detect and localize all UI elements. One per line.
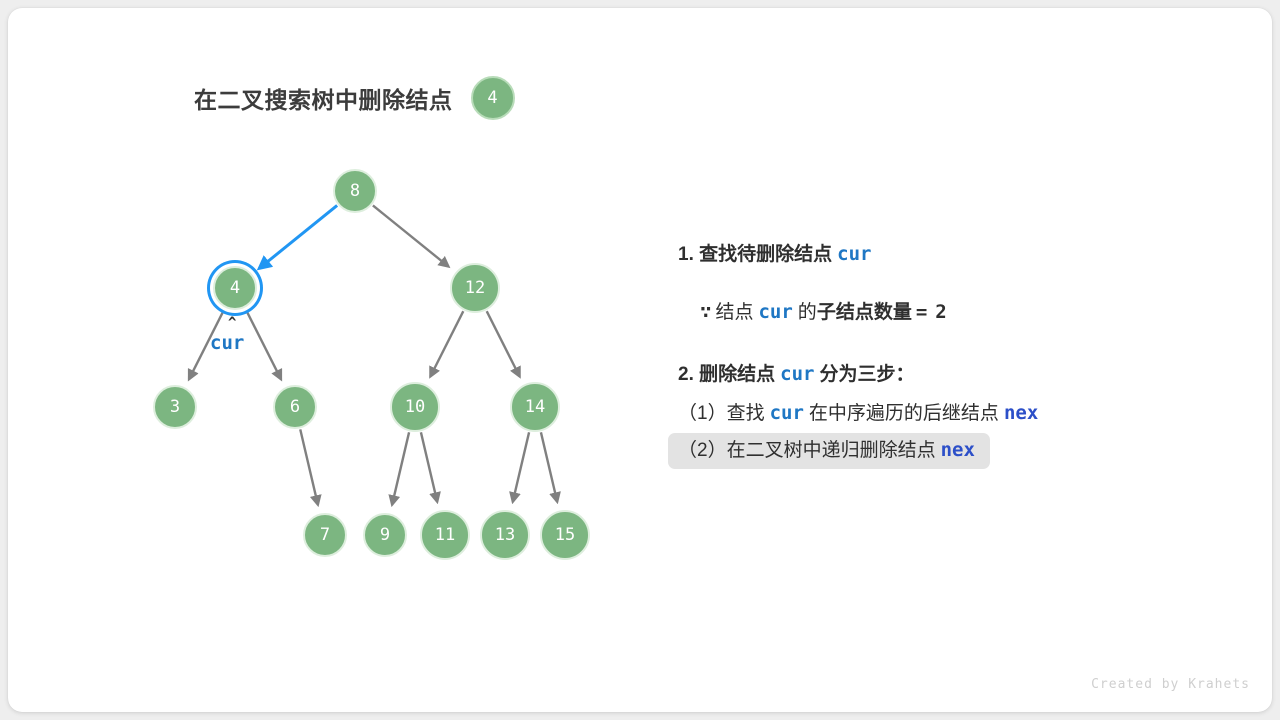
credit-watermark: Created by Krahets	[1091, 677, 1250, 692]
reason-line: ∵结点cur的子结点数量=2	[696, 302, 1218, 324]
sub-line-index: （1）	[678, 403, 727, 424]
step-2-text: 2. 删除结点	[678, 364, 775, 385]
step-2-heading: 2. 删除结点cur分为三步：	[678, 364, 1218, 386]
step-2-block: 2. 删除结点cur分为三步： （1）查找cur在中序遍历的后继结点nex（2）…	[678, 364, 1218, 470]
tree-node-label: 3	[170, 399, 180, 416]
tree-node-10: 10	[390, 382, 440, 432]
tree-node-label: 8	[350, 183, 360, 200]
tree-node-8: 8	[333, 169, 377, 213]
reason-part-1: 结点	[715, 302, 753, 323]
tree-node-6: 6	[273, 385, 317, 429]
sub-line-1: （1）查找cur在中序遍历的后继结点nex	[668, 396, 1053, 433]
tree-node-13: 13	[480, 510, 530, 560]
step-2-suffix: 分为三步：	[819, 364, 914, 385]
step-2-var-cur: cur	[775, 363, 819, 385]
reason-var-cur: cur	[753, 301, 797, 323]
step-1-var-cur: cur	[832, 243, 876, 265]
tree-node-label: 6	[290, 399, 300, 416]
tree-node-label: 13	[495, 527, 515, 544]
explanation-panel: 1. 查找待删除结点cur ∵结点cur的子结点数量=2 2. 删除结点cur分…	[678, 244, 1218, 469]
step-2-sub-line-row: （1）查找cur在中序遍历的后继结点nex	[668, 396, 1218, 433]
tree-node-label: 15	[555, 527, 575, 544]
reason-equals: =	[912, 301, 931, 323]
step-1-text: 1. 查找待删除结点	[678, 244, 832, 265]
tree-node-3: 3	[153, 385, 197, 429]
step-1-heading: 1. 查找待删除结点cur	[678, 244, 1218, 266]
tree-node-9: 9	[363, 513, 407, 557]
sub-line-var-nex: nex	[936, 439, 980, 461]
page-title: 在二叉搜索树中删除结点 4	[194, 76, 515, 120]
tree-node-label: 9	[380, 527, 390, 544]
tree-node-15: 15	[540, 510, 590, 560]
cur-pointer-label: cur	[210, 334, 244, 353]
tree-node-label: 7	[320, 527, 330, 544]
tree-node-label: 11	[435, 527, 455, 544]
step-2-sub-lines: （1）查找cur在中序遍历的后继结点nex（2）在二叉树中递归删除结点nex	[668, 396, 1218, 470]
step-2-sub-line-row: （2）在二叉树中递归删除结点nex	[668, 433, 1218, 470]
title-step-badge: 4	[471, 76, 515, 120]
tree-node-11: 11	[420, 510, 470, 560]
because-symbol-icon: ∵	[696, 301, 715, 323]
screenshot-stage: 在二叉搜索树中删除结点 4 841236101479111315 ^ cur 1…	[0, 0, 1280, 720]
sub-line-2: （2）在二叉树中递归删除结点nex	[668, 433, 990, 470]
sub-line-var-nex: nex	[999, 402, 1043, 424]
cur-pointer-caret-icon: ^	[228, 316, 236, 330]
tree-node-4: 4	[213, 266, 257, 310]
sub-line-text-before: 查找	[727, 403, 765, 424]
reason-part-2: 的	[798, 302, 817, 323]
sub-line-index: （2）	[678, 440, 727, 461]
tree-node-14: 14	[510, 382, 560, 432]
sub-line-text-middle: 在中序遍历的后继结点	[809, 403, 999, 424]
tree-node-label: 10	[405, 399, 425, 416]
tree-node-label: 12	[465, 280, 485, 297]
reason-value: 2	[931, 301, 950, 323]
sub-line-text-before: 在二叉树中递归删除结点	[727, 440, 936, 461]
tree-node-label: 14	[525, 399, 545, 416]
tree-node-7: 7	[303, 513, 347, 557]
page-title-text: 在二叉搜索树中删除结点	[194, 81, 453, 115]
sub-line-var-cur: cur	[765, 402, 809, 424]
tree-node-label: 4	[230, 280, 240, 297]
reason-part-3: 子结点数量	[817, 302, 912, 323]
tree-node-12: 12	[450, 263, 500, 313]
